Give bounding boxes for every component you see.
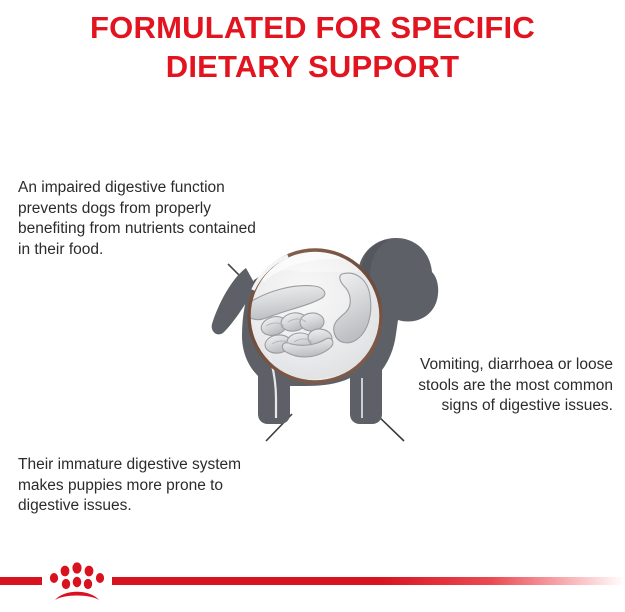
crown-arc	[55, 592, 99, 600]
callout-bottom-left-text: Their immature digestive system makes pu…	[18, 455, 280, 517]
callout-top-left: An impaired digestive function prevents …	[18, 178, 268, 260]
callout-right: Vomiting, diarrhoea or loose stools are …	[391, 355, 613, 417]
page-title: FORMULATED FOR SPECIFIC DIETARY SUPPORT	[0, 8, 625, 86]
crown-dots	[50, 562, 104, 589]
callout-bottom-left: Their immature digestive system makes pu…	[18, 455, 280, 517]
infographic-root: FORMULATED FOR SPECIFIC DIETARY SUPPORT	[0, 0, 625, 612]
footer-rule-right	[112, 577, 625, 585]
callout-top-left-text: An impaired digestive function prevents …	[18, 178, 268, 260]
footer-rule-left	[0, 577, 42, 585]
page-title-line-2: DIETARY SUPPORT	[0, 47, 625, 86]
footer-bar	[0, 550, 625, 612]
royal-canin-crown-logo	[44, 558, 110, 604]
page-title-line-1: FORMULATED FOR SPECIFIC	[0, 8, 625, 47]
callout-right-text: Vomiting, diarrhoea or loose stools are …	[391, 355, 613, 417]
